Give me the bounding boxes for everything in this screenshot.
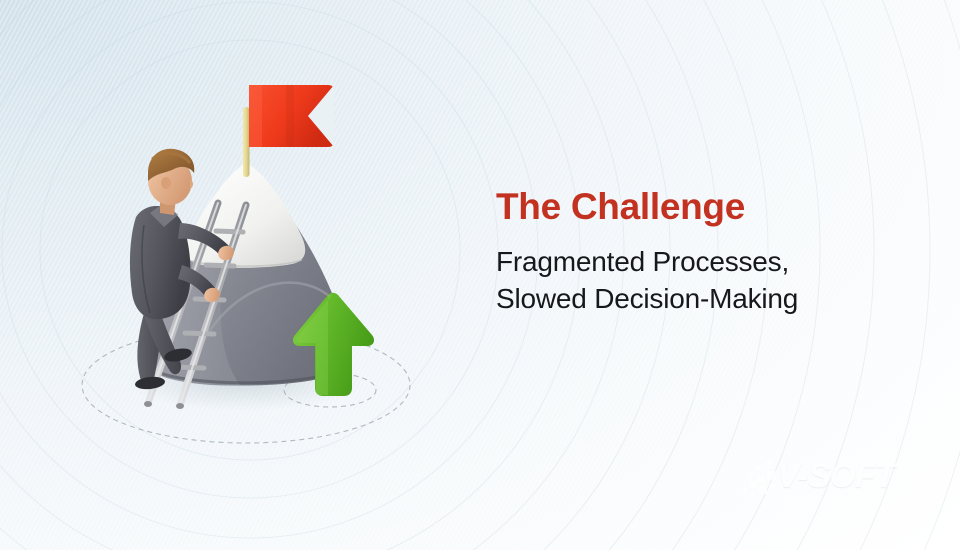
illustration-challenge-climb: [40, 55, 460, 475]
summit-flag: [243, 85, 334, 177]
page-subtitle: Fragmented Processes, Slowed Decision-Ma…: [496, 243, 916, 317]
page-title: The Challenge: [496, 188, 916, 227]
logo-registered-icon: ®: [897, 459, 904, 469]
logo-pixel-dots-icon: [735, 459, 783, 501]
subtitle-line-2: Slowed Decision-Making: [496, 280, 916, 317]
subtitle-line-1: Fragmented Processes,: [496, 246, 789, 277]
logo-wordmark: V-SOFT: [777, 459, 894, 493]
logo-tagline: CONSULTING: [783, 499, 897, 510]
vsoft-logo-watermark: V-SOFT ® CONSULTING: [735, 455, 915, 525]
text-block: The Challenge Fragmented Processes, Slow…: [496, 188, 916, 317]
slide-canvas: The Challenge Fragmented Processes, Slow…: [0, 0, 960, 550]
